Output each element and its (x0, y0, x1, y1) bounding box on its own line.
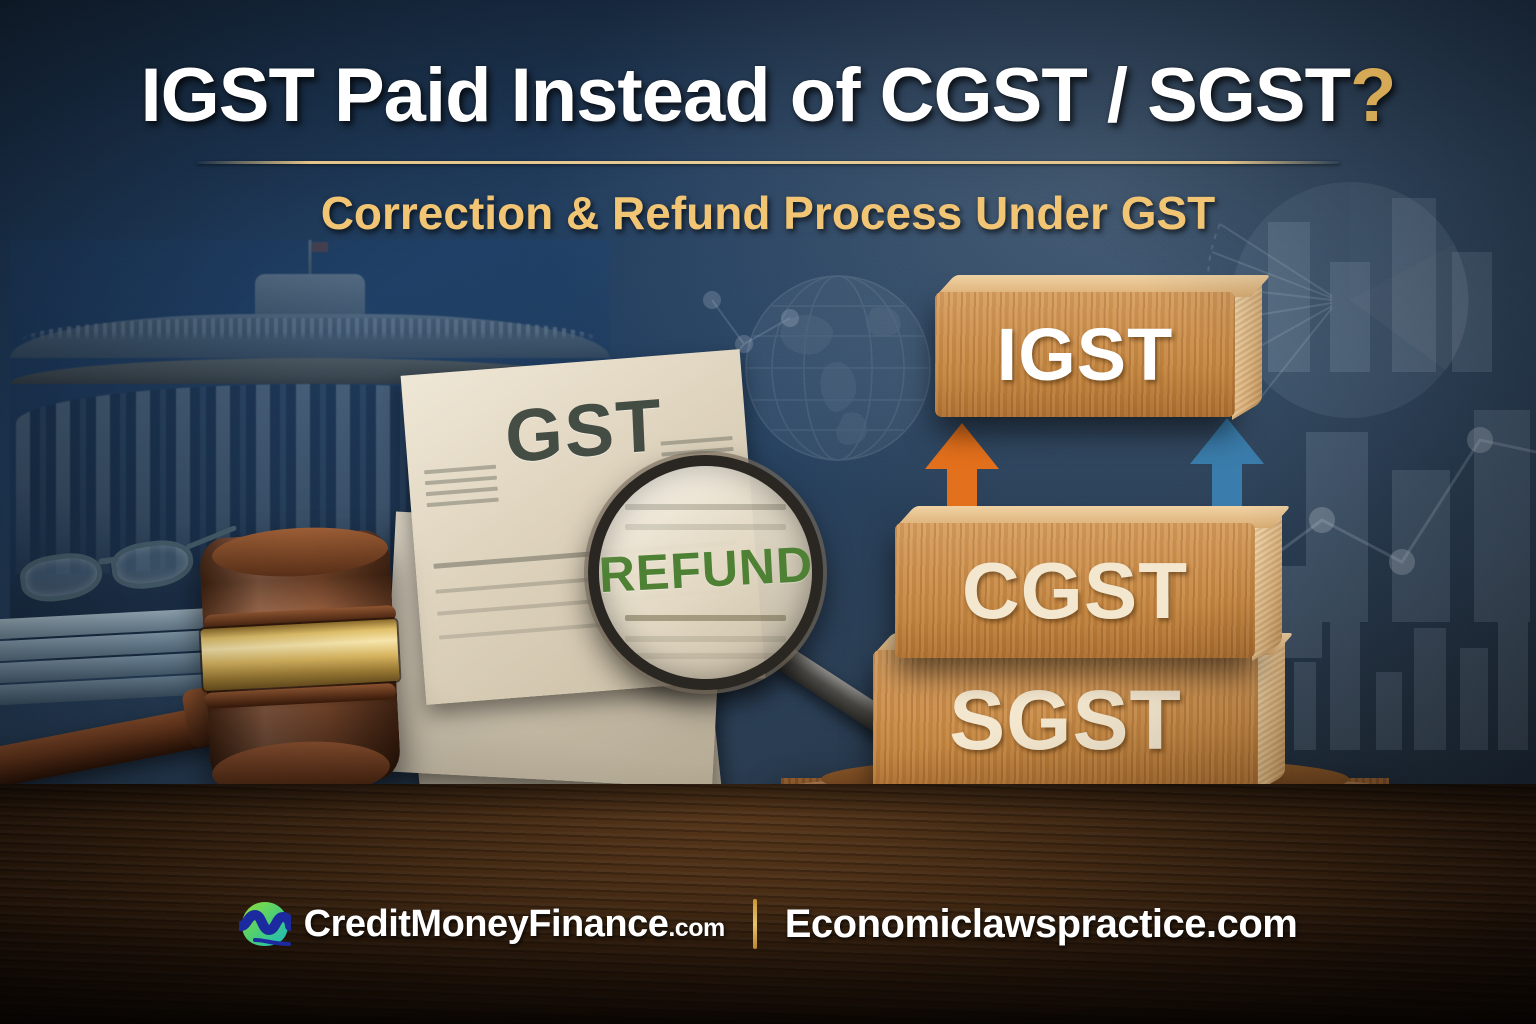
block-label-igst: IGST (935, 292, 1235, 417)
wooden-block-igst: IGST (935, 292, 1235, 417)
page-title: IGST Paid Instead of CGST / SGST? (0, 52, 1536, 139)
page-subtitle: Correction & Refund Process Under GST (0, 186, 1536, 240)
footer-branding: CreditMoneyFinance.com Economiclawspract… (0, 893, 1536, 955)
brand-economiclawspractice[interactable]: Economiclawspractice.com (785, 902, 1298, 947)
block-label-sgst: SGST (873, 650, 1258, 790)
magnifying-glass: REFUND (588, 455, 823, 690)
brand-name-primary: CreditMoneyFinance.com (304, 903, 725, 946)
magnifier-lens: REFUND (588, 455, 823, 690)
page-title-text: IGST Paid Instead of CGST / SGST (141, 53, 1351, 138)
question-mark-icon: ? (1350, 53, 1395, 138)
title-divider (196, 161, 1340, 164)
wooden-block-cgst: CGST (895, 523, 1255, 658)
wooden-block-sgst: SGST (873, 650, 1258, 790)
poster-canvas: GST REFUND (0, 0, 1536, 1024)
creditmoneyfinance-logo-icon (239, 900, 291, 948)
block-label-cgst: CGST (895, 523, 1255, 658)
brand-name-text: CreditMoneyFinance (304, 903, 669, 945)
gavel-gold-band (201, 619, 400, 691)
footer-divider (753, 899, 757, 949)
brand-creditmoneyfinance[interactable]: CreditMoneyFinance.com (239, 900, 725, 948)
brand-tld-text: .com (668, 914, 724, 942)
